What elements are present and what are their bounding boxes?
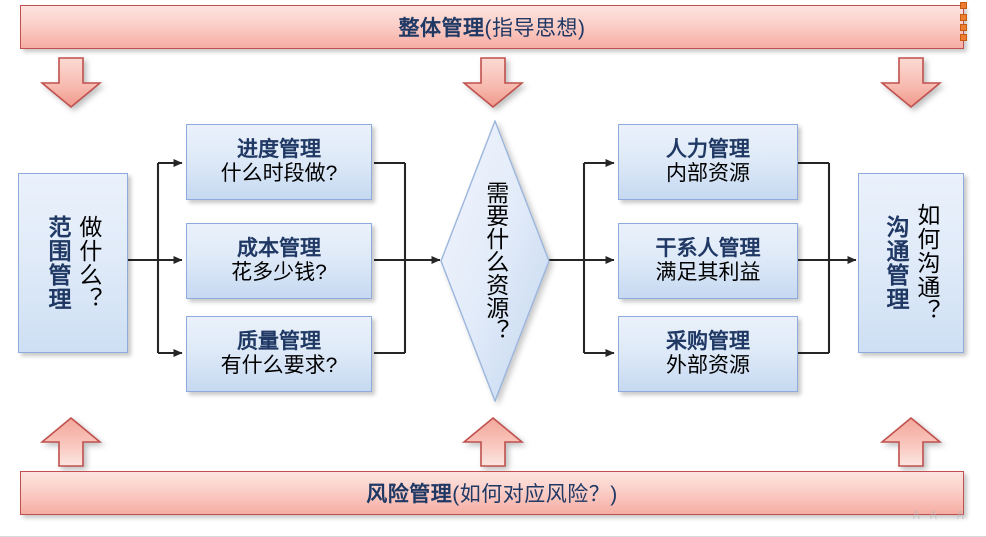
- node-procurement-management[interactable]: 采购管理 外部资源: [618, 316, 798, 392]
- node-schedule-title: 进度管理: [237, 138, 321, 162]
- node-schedule-management[interactable]: 进度管理 什么时段做?: [186, 124, 372, 200]
- up-arrow-center: [462, 416, 524, 468]
- bottom-banner-text: 风险管理(如何对应风险？): [366, 478, 618, 508]
- node-scope-question: 做什么？: [76, 215, 101, 311]
- selection-handle-top-right[interactable]: [960, 2, 967, 9]
- node-quality-management[interactable]: 质量管理 有什么要求?: [186, 316, 372, 392]
- node-cost-title: 成本管理: [237, 237, 321, 261]
- down-arrow-right: [880, 57, 942, 109]
- node-procurement-sub: 外部资源: [666, 354, 750, 378]
- node-stakeholder-management[interactable]: 干系人管理 满足其利益: [618, 223, 798, 299]
- node-schedule-sub: 什么时段做?: [221, 162, 338, 186]
- bottom-banner-risk-management[interactable]: 风险管理(如何对应风险？): [20, 471, 964, 515]
- diagram-canvas: 整体管理(指导思想): [0, 0, 986, 537]
- up-arrow-right: [880, 416, 942, 468]
- node-human-resource-management[interactable]: 人力管理 内部资源: [618, 124, 798, 200]
- node-scope-management[interactable]: 做什么？ 范围管理: [18, 173, 128, 353]
- node-human-resource-sub: 内部资源: [666, 162, 750, 186]
- node-quality-title: 质量管理: [237, 330, 321, 354]
- node-cost-sub: 花多少钱?: [231, 261, 327, 285]
- node-communication-title: 沟通管理: [883, 215, 908, 311]
- bottom-banner-title: 风险管理: [366, 483, 452, 506]
- up-arrow-left: [40, 416, 102, 468]
- node-scope-title: 范围管理: [45, 215, 70, 311]
- selection-handle-right-middle[interactable]: [960, 24, 967, 31]
- bottom-banner-subtitle: (如何对应风险？): [452, 483, 618, 506]
- top-banner-title: 整体管理: [399, 17, 485, 40]
- watermark-smudge: ∧∧ ∧: [862, 505, 972, 531]
- node-cost-management[interactable]: 成本管理 花多少钱?: [186, 223, 372, 299]
- node-stakeholder-title: 干系人管理: [656, 237, 761, 261]
- node-quality-sub: 有什么要求?: [221, 354, 338, 378]
- down-arrow-center: [462, 57, 524, 109]
- selection-handle-right-lower[interactable]: [960, 34, 967, 41]
- node-human-resource-title: 人力管理: [666, 138, 750, 162]
- node-communication-question: 如何沟通？: [914, 203, 939, 323]
- top-banner-integration-management[interactable]: 整体管理(指导思想): [20, 5, 964, 49]
- node-stakeholder-sub: 满足其利益: [656, 261, 761, 285]
- down-arrow-left: [40, 57, 102, 109]
- top-banner-text: 整体管理(指导思想): [399, 12, 586, 42]
- selection-handle-right-upper[interactable]: [960, 14, 967, 21]
- node-procurement-title: 采购管理: [666, 330, 750, 354]
- top-banner-subtitle: (指导思想): [485, 17, 586, 40]
- node-communication-management[interactable]: 如何沟通？ 沟通管理: [858, 173, 964, 353]
- node-resource-decision[interactable]: 需要什么资源？: [440, 120, 550, 402]
